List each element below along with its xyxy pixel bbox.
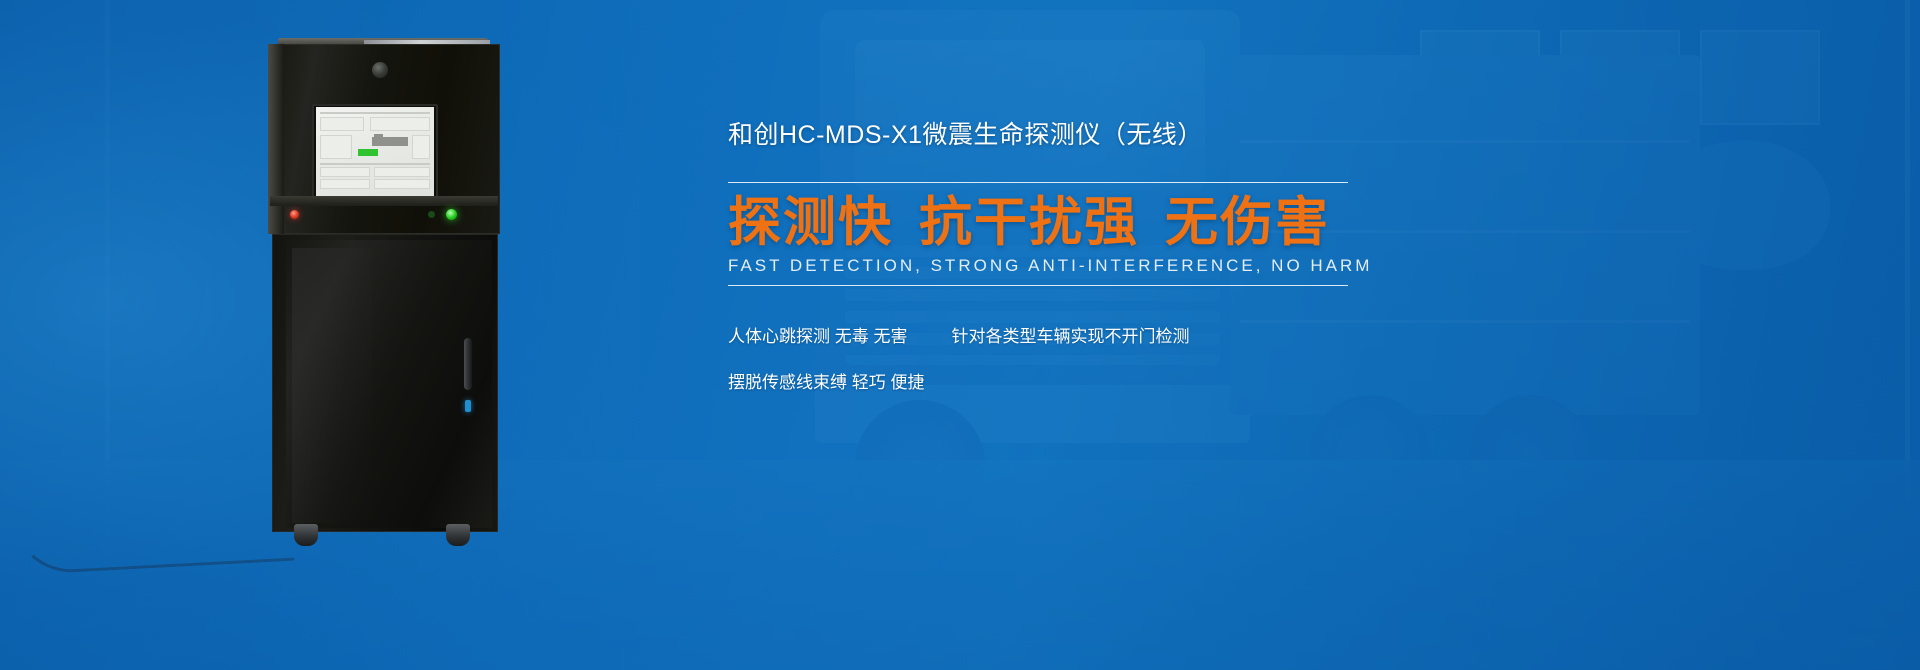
- power-led-red-icon: [290, 210, 299, 219]
- device-door-handle: [464, 338, 472, 390]
- slogan-part-1: 探测快: [728, 192, 893, 253]
- feature-list: 人体心跳探测 无毒 无害针对各类型车辆实现不开门检测 摆脱传感线束缚 轻巧 便捷: [728, 324, 1348, 396]
- product-banner: 和创HC-MDS-X1微震生命探测仪（无线） 探测快抗干扰强无伤害 FAST D…: [0, 0, 1920, 670]
- slogan-part-3: 无伤害: [1165, 192, 1330, 253]
- device-caster-wheel: [294, 524, 318, 546]
- device-door-reflection: [292, 248, 372, 523]
- slogan-headline: 探测快抗干扰强无伤害: [728, 189, 1348, 257]
- power-led-green-icon: [446, 209, 457, 220]
- device-screen: [316, 107, 434, 196]
- device-lock-led-icon: [465, 400, 471, 412]
- divider-line-bottom: [728, 285, 1348, 286]
- slogan-english-subtitle: FAST DETECTION, STRONG ANTI-INTERFERENCE…: [728, 255, 1348, 277]
- feature-line: 摆脱传感线束缚 轻巧 便捷: [728, 370, 1348, 396]
- feature-text-left: 摆脱传感线束缚 轻巧 便捷: [728, 373, 924, 392]
- divider-line-top: [728, 182, 1348, 183]
- device-caster-wheel: [446, 524, 470, 546]
- product-device-photo: [268, 38, 500, 534]
- device-divider-bar: [270, 196, 498, 206]
- slogan-part-2: 抗干扰强: [919, 192, 1139, 253]
- banner-copy-block: 和创HC-MDS-X1微震生命探测仪（无线） 探测快抗干扰强无伤害 FAST D…: [728, 118, 1348, 396]
- feature-text-left: 人体心跳探测 无毒 无害: [728, 327, 907, 346]
- feature-text-right: 针对各类型车辆实现不开门检测: [951, 327, 1189, 346]
- status-led-icon: [428, 211, 435, 218]
- camera-lens-icon: [372, 62, 388, 78]
- product-title: 和创HC-MDS-X1微震生命探测仪（无线）: [728, 118, 1348, 152]
- feature-line: 人体心跳探测 无毒 无害针对各类型车辆实现不开门检测: [728, 324, 1348, 350]
